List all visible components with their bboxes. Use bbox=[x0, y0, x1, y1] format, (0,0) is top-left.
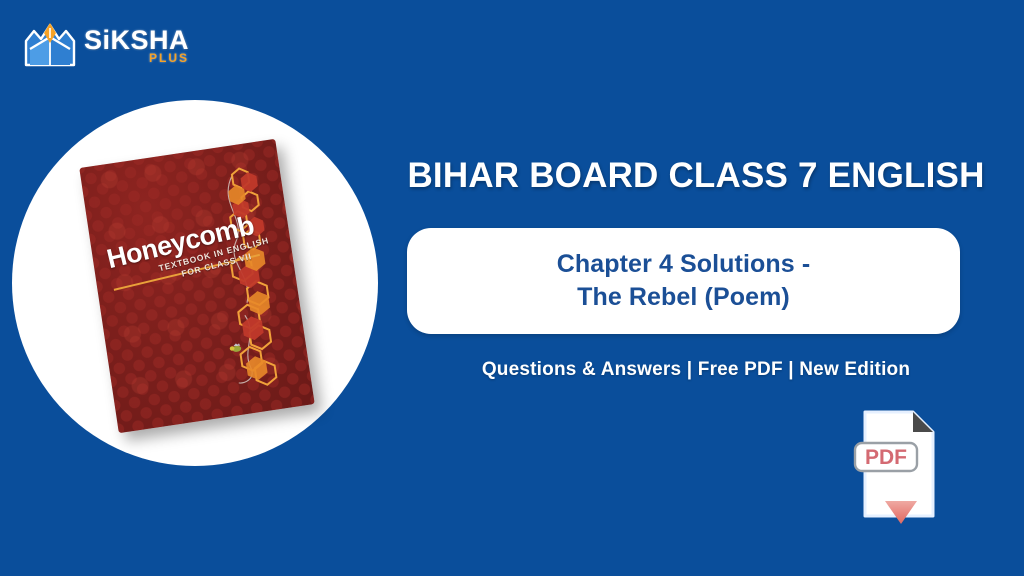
page-title: BIHAR BOARD CLASS 7 ENGLISH bbox=[378, 157, 1014, 196]
bee-icon bbox=[227, 342, 244, 355]
chapter-title-text: Chapter 4 Solutions - The Rebel (Poem) bbox=[557, 248, 811, 314]
hexagon-chain-graphic bbox=[79, 139, 314, 433]
logo-primary-text: SiKSHA bbox=[84, 27, 189, 54]
chapter-title-card: Chapter 4 Solutions - The Rebel (Poem) bbox=[407, 228, 960, 334]
logo-secondary-text: PLUS bbox=[84, 52, 189, 64]
book-cover-media: Honeycomb TEXTBOOK IN ENGLISH FOR CLASS … bbox=[12, 100, 378, 466]
book-mountain-icon bbox=[22, 19, 78, 71]
site-logo[interactable]: SiKSHA PLUS bbox=[22, 14, 222, 76]
pdf-label: PDF bbox=[865, 446, 907, 469]
page-subtitle: Questions & Answers | Free PDF | New Edi… bbox=[378, 359, 1014, 381]
chapter-title-line-2: The Rebel (Poem) bbox=[557, 281, 811, 314]
promo-banner: SiKSHA PLUS bbox=[0, 0, 1024, 576]
chapter-title-line-1: Chapter 4 Solutions - bbox=[557, 248, 811, 281]
pdf-download-icon[interactable]: PDF bbox=[851, 400, 947, 528]
textbook-cover-image: Honeycomb TEXTBOOK IN ENGLISH FOR CLASS … bbox=[79, 139, 314, 433]
